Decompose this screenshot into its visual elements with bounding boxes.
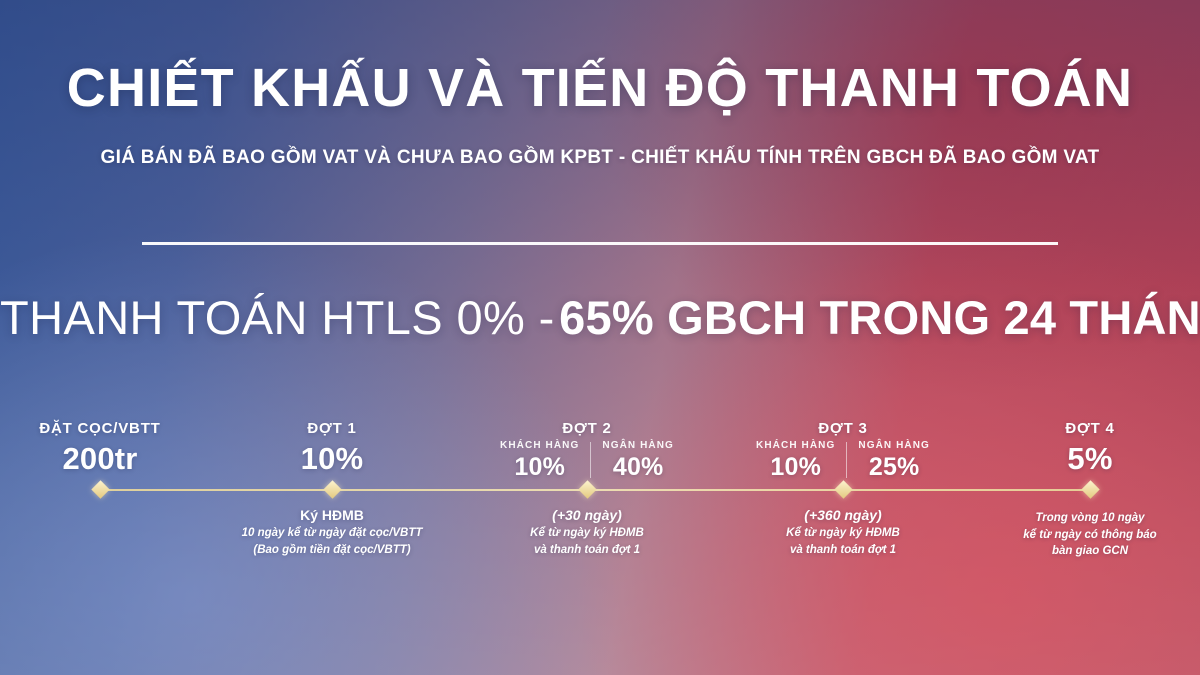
sub-label: NGÂN HÀNG bbox=[858, 440, 930, 451]
caption-head: (+30 ngày) bbox=[487, 506, 687, 525]
stop-label: ĐỢT 3 bbox=[743, 420, 943, 437]
timeline-stop-dot-3[interactable]: ĐỢT 3 KHÁCH HÀNG 10% NGÂN HÀNG 25% bbox=[743, 420, 943, 482]
poster-canvas: CHIẾT KHẤU VÀ TIẾN ĐỘ THANH TOÁN GIÁ BÁN… bbox=[0, 0, 1200, 675]
stop-label: ĐỢT 2 bbox=[487, 420, 687, 437]
headline-heavy-text: 65% GBCH TRONG 24 THÁNG bbox=[559, 291, 1200, 344]
timeline-node-4 bbox=[1081, 480, 1099, 498]
sub-value: 25% bbox=[858, 453, 930, 482]
header-divider bbox=[142, 242, 1058, 245]
caption-head: Ký HĐMB bbox=[232, 506, 432, 525]
caption-line: và thanh toán đợt 1 bbox=[743, 542, 943, 559]
split-col-khach-hang: KHÁCH HÀNG 10% bbox=[745, 440, 846, 482]
caption-line: 10 ngày kể từ ngày đặt cọc/VBTT bbox=[232, 525, 432, 542]
stop-value: 10% bbox=[232, 441, 432, 477]
timeline-stop-dot-4[interactable]: ĐỢT 4 5% bbox=[990, 420, 1190, 477]
timeline-caption-dot-2: (+30 ngày) Kể từ ngày ký HĐMB và thanh t… bbox=[487, 506, 687, 558]
caption-line: Kể từ ngày ký HĐMB bbox=[743, 525, 943, 542]
timeline-caption-dot-3: (+360 ngày) Kể từ ngày ký HĐMB và thanh … bbox=[743, 506, 943, 558]
caption-line: Trong vòng 10 ngày bbox=[990, 510, 1190, 527]
stop-label: ĐỢT 1 bbox=[232, 420, 432, 437]
caption-line: Kể từ ngày ký HĐMB bbox=[487, 525, 687, 542]
timeline-caption-dot-1: Ký HĐMB 10 ngày kể từ ngày đặt cọc/VBTT … bbox=[232, 506, 432, 558]
page-subtitle: GIÁ BÁN ĐÃ BAO GỒM VAT VÀ CHƯA BAO GỒM K… bbox=[0, 147, 1200, 169]
timeline-node-0 bbox=[91, 480, 109, 498]
sub-label: KHÁCH HÀNG bbox=[756, 440, 835, 451]
stop-split-group: KHÁCH HÀNG 10% NGÂN HÀNG 40% bbox=[487, 440, 687, 482]
timeline-stop-dot-2[interactable]: ĐỢT 2 KHÁCH HÀNG 10% NGÂN HÀNG 40% bbox=[487, 420, 687, 482]
caption-line: bàn giao GCN bbox=[990, 543, 1190, 560]
payment-timeline: ĐẶT CỌC/VBTT 200tr ĐỢT 1 10% Ký HĐMB 10 … bbox=[0, 420, 1200, 570]
caption-line: (Bao gồm tiền đặt cọc/VBTT) bbox=[232, 542, 432, 559]
caption-head: (+360 ngày) bbox=[743, 506, 943, 525]
sub-label: KHÁCH HÀNG bbox=[500, 440, 579, 451]
sub-value: 10% bbox=[756, 453, 835, 482]
stop-split-group: KHÁCH HÀNG 10% NGÂN HÀNG 25% bbox=[743, 440, 943, 482]
timeline-stop-dot-1[interactable]: ĐỢT 1 10% bbox=[232, 420, 432, 477]
stop-value: 5% bbox=[990, 441, 1190, 477]
split-col-khach-hang: KHÁCH HÀNG 10% bbox=[489, 440, 590, 482]
timeline-node-2 bbox=[578, 480, 596, 498]
caption-line: kể từ ngày có thông báo bbox=[990, 527, 1190, 544]
stop-label: ĐỢT 4 bbox=[990, 420, 1190, 437]
split-col-ngan-hang: NGÂN HÀNG 40% bbox=[591, 440, 685, 482]
timeline-caption-dot-4: Trong vòng 10 ngày kể từ ngày có thông b… bbox=[990, 510, 1190, 560]
timeline-stop-dat-coc[interactable]: ĐẶT CỌC/VBTT 200tr bbox=[0, 420, 200, 477]
sub-label: NGÂN HÀNG bbox=[602, 440, 674, 451]
stop-value: 200tr bbox=[0, 441, 200, 477]
page-title: CHIẾT KHẤU VÀ TIẾN ĐỘ THANH TOÁN bbox=[0, 60, 1200, 117]
caption-line: và thanh toán đợt 1 bbox=[487, 542, 687, 559]
timeline-node-1 bbox=[323, 480, 341, 498]
timeline-node-3 bbox=[834, 480, 852, 498]
headline-block: THANH TOÁN HTLS 0% - 65% GBCH TRONG 24 T… bbox=[0, 290, 1200, 345]
header-block: CHIẾT KHẤU VÀ TIẾN ĐỘ THANH TOÁN GIÁ BÁN… bbox=[0, 60, 1200, 169]
sub-value: 10% bbox=[500, 453, 579, 482]
split-col-ngan-hang: NGÂN HÀNG 25% bbox=[847, 440, 941, 482]
stop-label: ĐẶT CỌC/VBTT bbox=[0, 420, 200, 437]
sub-value: 40% bbox=[602, 453, 674, 482]
headline-light-text: THANH TOÁN HTLS 0% - bbox=[0, 291, 555, 344]
